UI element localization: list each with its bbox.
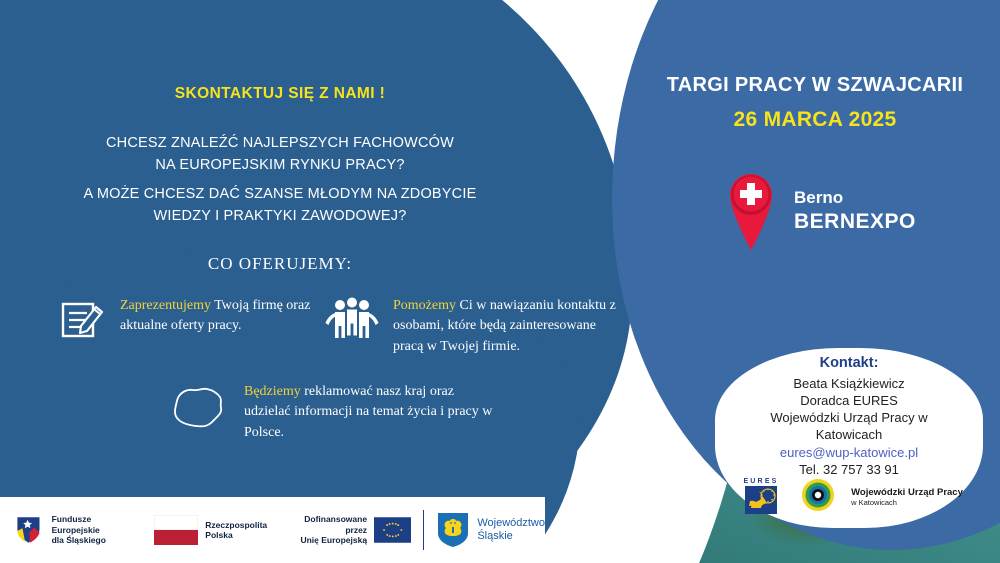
question-block-1: CHCESZ ZNALEŹĆ NAJLEPSZYCH FACHOWCÓW NA …: [0, 132, 560, 177]
swiss-cross-map-pin-icon: [722, 165, 780, 256]
question-block-2: A MOŻE CHCESZ DAĆ SZANSE MŁODYM NA ZDOBY…: [0, 183, 560, 228]
woj-label-line-1: Województwo: [477, 517, 545, 529]
fe-label: Fundusze Europejskie dla Śląskiego: [52, 514, 129, 545]
contact-heading: Kontakt:: [715, 355, 983, 371]
wojewodztwo-slaskie-logo: Województwo Śląskie: [436, 511, 545, 549]
rzeczpospolita-polska-logo: Rzeczpospolita Polska: [154, 515, 267, 545]
offer-item: Będziemy reklamować nasz kraj oraz udzie…: [168, 382, 498, 443]
venue-text: Berno BERNEXPO: [794, 188, 916, 234]
three-people-icon: [325, 296, 379, 347]
contact-logos: EURES Woje: [722, 474, 978, 521]
contact-details: Kontakt: Beata Książkiewicz Doradca EURE…: [715, 355, 983, 478]
eu-label-line-2: Unię Europejską: [300, 535, 367, 545]
venue-name: BERNEXPO: [794, 210, 916, 234]
fundusze-europejskie-logo: Fundusze Europejskie dla Śląskiego: [14, 513, 128, 547]
eures-logo: EURES: [737, 474, 785, 521]
contact-role: Doradca EURES: [715, 392, 983, 409]
headline: SKONTAKTUJ SIĘ Z NAMI !: [0, 85, 560, 103]
european-union-logo: Dofinansowane przez Unię Europejską: [293, 514, 411, 545]
contact-name: Beata Książkiewicz: [715, 375, 983, 392]
venue-city: Berno: [794, 188, 916, 208]
event-title: TARGI PRACY W SZWAJCARII: [640, 74, 990, 97]
eu-flag-icon: [374, 515, 411, 545]
offer-section-title: CO OFERUJEMY:: [0, 254, 560, 274]
eu-label: Dofinansowane przez Unię Europejską: [293, 514, 367, 545]
svg-text:EURES: EURES: [744, 478, 779, 485]
offer-item: Pomożemy Ci w nawiązaniu kontaktu z osob…: [325, 296, 625, 357]
wup-katowice-label: Wojewódzki Urząd Pracy w Katowicach: [851, 488, 963, 507]
eu-label-line-1: Dofinansowane przez: [304, 514, 367, 534]
footer-logo-bar: Fundusze Europejskie dla Śląskiego Rzecz…: [0, 497, 545, 563]
offer-highlight: Będziemy: [244, 384, 301, 399]
contact-org-line-1: Wojewódzki Urząd Pracy w: [715, 409, 983, 426]
offer-text: Będziemy reklamować nasz kraj oraz udzie…: [244, 382, 498, 443]
poster: SKONTAKTUJ SIĘ Z NAMI ! CHCESZ ZNALEŹĆ N…: [0, 0, 1000, 563]
footer-divider: [423, 510, 424, 550]
offer-item: Zaprezentujemy Twoją firmę oraz aktualne…: [60, 296, 320, 347]
poland-flag-icon: [154, 515, 198, 545]
rp-label-line-2: Polska: [205, 530, 232, 540]
question-2-line-2: WIEDZY I PRAKTYKI ZAWODOWEJ?: [0, 205, 560, 227]
left-content: SKONTAKTUJ SIĘ Z NAMI ! CHCESZ ZNALEŹĆ N…: [0, 0, 620, 563]
rp-label: Rzeczpospolita Polska: [205, 520, 267, 541]
woj-label-line-2: Śląskie: [477, 530, 512, 542]
fe-label-line-2: dla Śląskiego: [52, 535, 106, 545]
offer-text: Pomożemy Ci w nawiązaniu kontaktu z osob…: [393, 296, 625, 357]
rp-label-line-1: Rzeczpospolita: [205, 520, 267, 530]
contact-email[interactable]: eures@wup-katowice.pl: [715, 444, 983, 461]
fe-star-mark: [14, 513, 45, 547]
question-2-line-1: A MOŻE CHCESZ DAĆ SZANSE MŁODYM NA ZDOBY…: [0, 183, 560, 205]
question-1-line-2: NA EUROPEJSKIM RYNKU PRACY?: [0, 154, 560, 176]
offer-highlight: Pomożemy: [393, 298, 456, 313]
venue-block: Berno BERNEXPO: [722, 165, 916, 256]
contact-org-line-2: Katowicach: [715, 426, 983, 443]
woj-label: Województwo Śląskie: [477, 517, 545, 543]
event-date: 26 MARCA 2025: [640, 108, 990, 132]
fe-label-line-1: Fundusze Europejskie: [52, 514, 100, 534]
wup-label-line-2: w Katowicach: [851, 499, 963, 507]
wup-katowice-logo: [801, 478, 835, 517]
document-pencil-icon: [60, 296, 106, 347]
offer-highlight: Zaprezentujemy: [120, 298, 211, 313]
offer-text: Zaprezentujemy Twoją firmę oraz aktualne…: [120, 296, 320, 337]
silesian-eagle-crest-icon: [436, 511, 470, 549]
question-1-line-1: CHCESZ ZNALEŹĆ NAJLEPSZYCH FACHOWCÓW: [0, 132, 560, 154]
poland-map-icon: [168, 382, 230, 439]
